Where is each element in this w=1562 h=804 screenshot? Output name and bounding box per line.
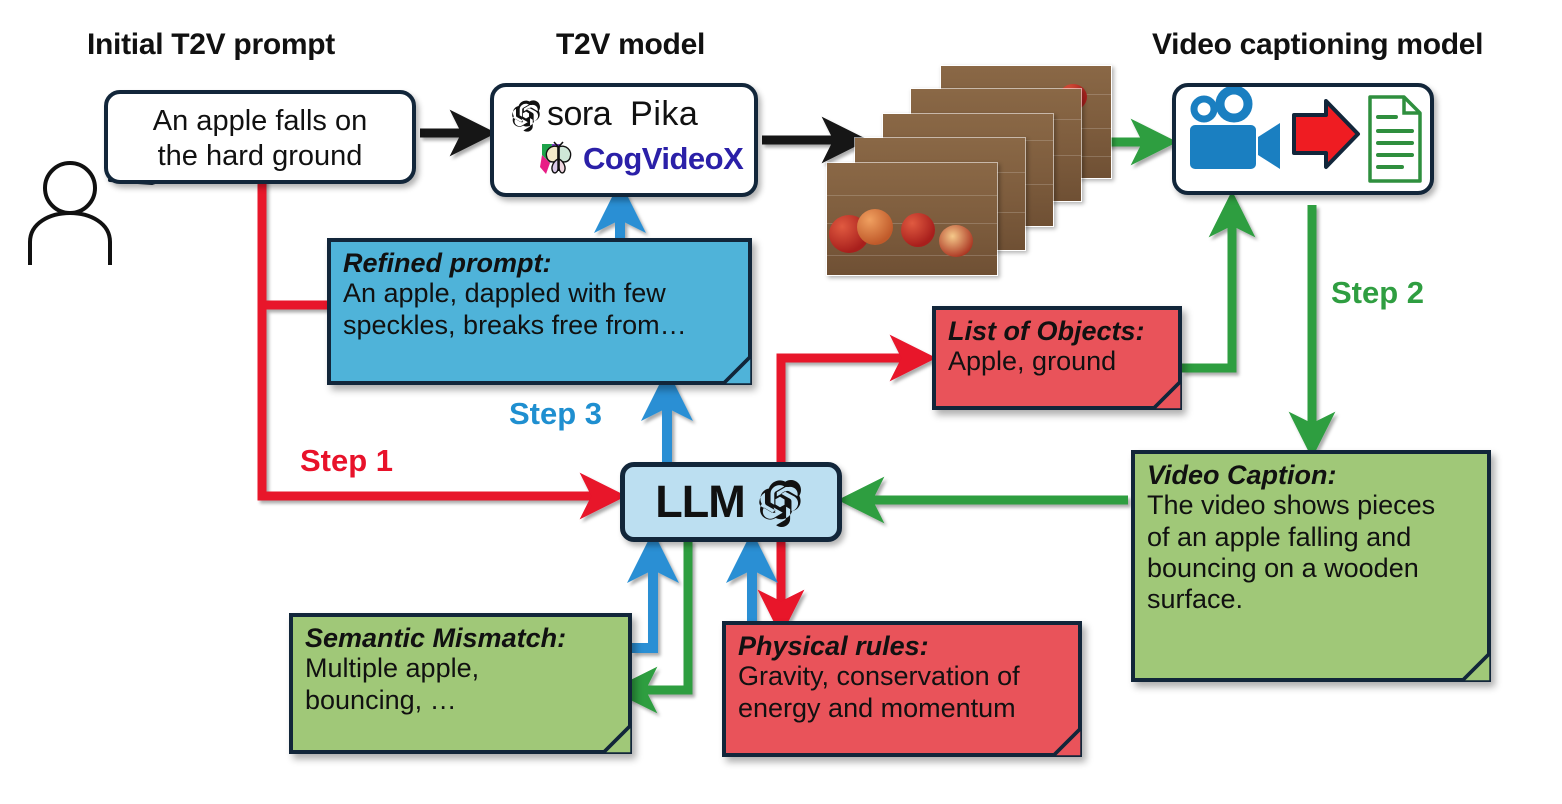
step-3-label: Step 3 <box>509 396 602 432</box>
cogvideox-label: CogVideoX <box>583 141 743 177</box>
physical-rules-line-1: Gravity, conservation of <box>738 661 1068 692</box>
folded-corner-icon <box>602 724 632 754</box>
video-captioning-model-box[interactable] <box>1172 83 1434 195</box>
openai-logo-icon <box>753 475 807 529</box>
bubble-line-1: An apple falls on <box>122 104 398 139</box>
video-caption-line-4: surface. <box>1147 584 1477 615</box>
video-caption-line-2: of an apple falling and <box>1147 522 1477 553</box>
llm-node[interactable]: LLM <box>620 462 842 542</box>
note-physical-rules: Physical rules: Gravity, conservation of… <box>722 621 1082 757</box>
step-2-label: Step 2 <box>1331 275 1424 311</box>
llm-label: LLM <box>655 476 744 528</box>
diagram-canvas: Initial T2V prompt T2V model Video capti… <box>0 0 1562 804</box>
physical-rules-line-2: energy and momentum <box>738 693 1068 724</box>
step-1-label: Step 1 <box>300 443 393 479</box>
header-captioning-model: Video captioning model <box>1152 28 1483 62</box>
video-camera-icon <box>1190 90 1280 169</box>
folded-corner-icon <box>1052 727 1082 757</box>
red-right-arrow-icon <box>1294 101 1358 167</box>
sora-label: sora <box>547 95 611 134</box>
header-initial-prompt: Initial T2V prompt <box>87 28 335 62</box>
arrow-llm-to-semantic <box>625 540 688 690</box>
bubble-line-2: the hard ground <box>122 139 398 174</box>
video-caption-line-3: bouncing on a wooden <box>1147 553 1477 584</box>
openai-logo-icon <box>508 97 544 133</box>
folded-corner-icon <box>1461 652 1491 682</box>
video-caption-line-1: The video shows pieces <box>1147 490 1477 521</box>
semantic-mismatch-line-2: bouncing, … <box>305 685 618 716</box>
caption-document-icon <box>1370 97 1420 181</box>
list-objects-line-1: Apple, ground <box>948 346 1168 377</box>
pika-label: Pika <box>630 95 698 134</box>
note-list-of-objects: List of Objects: Apple, ground <box>932 306 1182 410</box>
video-caption-title: Video Caption: <box>1147 460 1477 490</box>
physical-rules-title: Physical rules: <box>738 631 1068 661</box>
list-objects-title: List of Objects: <box>948 316 1168 346</box>
t2v-model-box[interactable]: sora Pika CogVideoX <box>490 83 758 197</box>
semantic-mismatch-line-1: Multiple apple, <box>305 653 618 684</box>
arrow-llm-to-objects <box>781 358 922 462</box>
note-video-caption: Video Caption: The video shows pieces of… <box>1131 450 1491 682</box>
folded-corner-icon <box>722 355 752 385</box>
note-refined-prompt: Refined prompt: An apple, dappled with f… <box>327 238 752 385</box>
refined-prompt-title: Refined prompt: <box>343 248 738 278</box>
arrow-objects-to-captioner <box>1182 205 1232 368</box>
cogvideox-butterfly-icon <box>538 141 580 177</box>
refined-prompt-line-2: speckles, breaks free from… <box>343 310 738 341</box>
semantic-mismatch-title: Semantic Mismatch: <box>305 623 618 653</box>
initial-prompt-bubble: An apple falls on the hard ground <box>104 90 416 184</box>
note-semantic-mismatch: Semantic Mismatch: Multiple apple, bounc… <box>289 613 632 754</box>
header-t2v-model: T2V model <box>556 28 705 62</box>
refined-prompt-line-1: An apple, dappled with few <box>343 278 738 309</box>
folded-corner-icon <box>1152 380 1182 410</box>
arrow-semantic-to-llm <box>632 547 653 648</box>
